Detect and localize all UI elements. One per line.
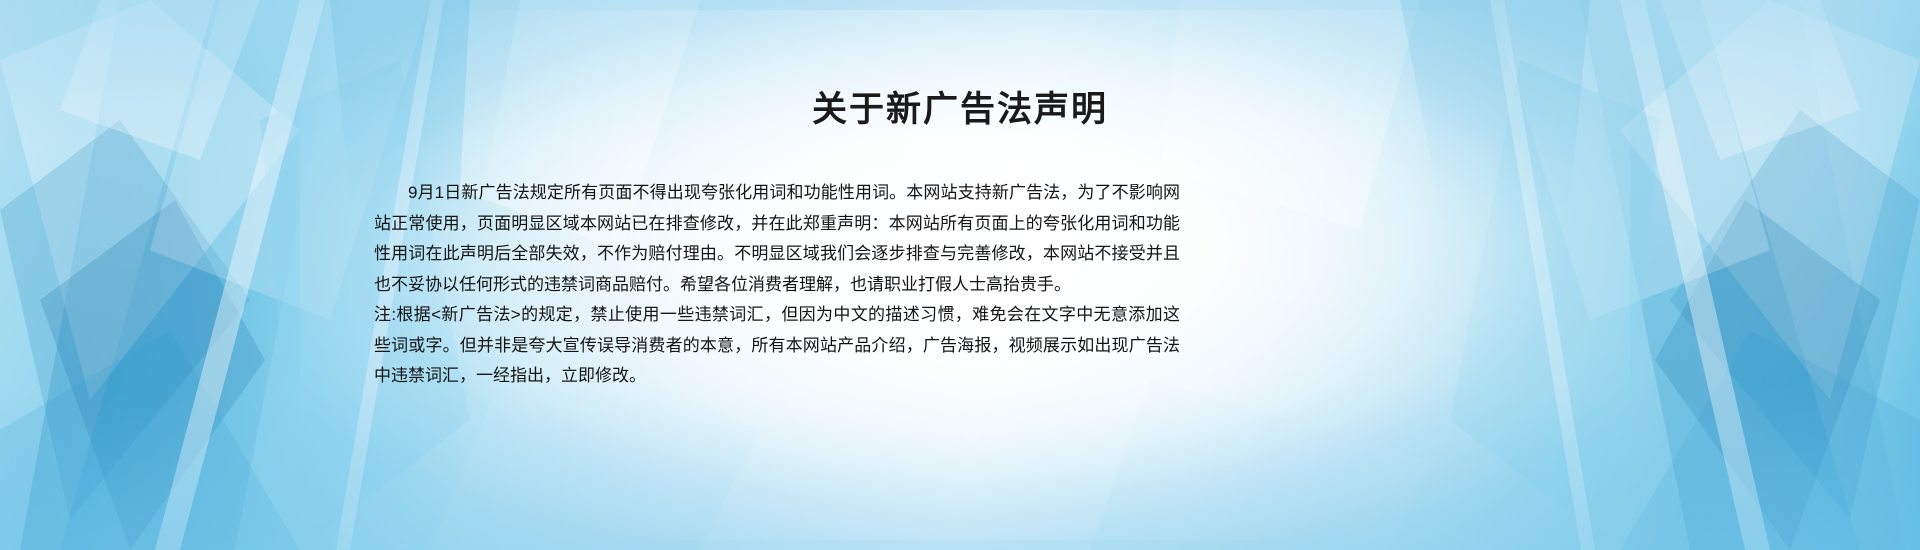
page-title: 关于新广告法声明	[0, 88, 1920, 132]
statement-paragraph-note: 注:根据<新广告法>的规定，禁止使用一些违禁词汇，但因为中文的描述习惯，难免会在…	[374, 300, 1180, 392]
statement-content: 关于新广告法声明 9月1日新广告法规定所有页面不得出现夸张化用词和功能性用词。本…	[0, 0, 1920, 550]
statement-body: 9月1日新广告法规定所有页面不得出现夸张化用词和功能性用词。本网站支持新广告法，…	[374, 178, 1180, 392]
advertising-law-banner: 关于新广告法声明 9月1日新广告法规定所有页面不得出现夸张化用词和功能性用词。本…	[0, 0, 1920, 550]
statement-paragraph-main: 9月1日新广告法规定所有页面不得出现夸张化用词和功能性用词。本网站支持新广告法，…	[374, 178, 1180, 300]
